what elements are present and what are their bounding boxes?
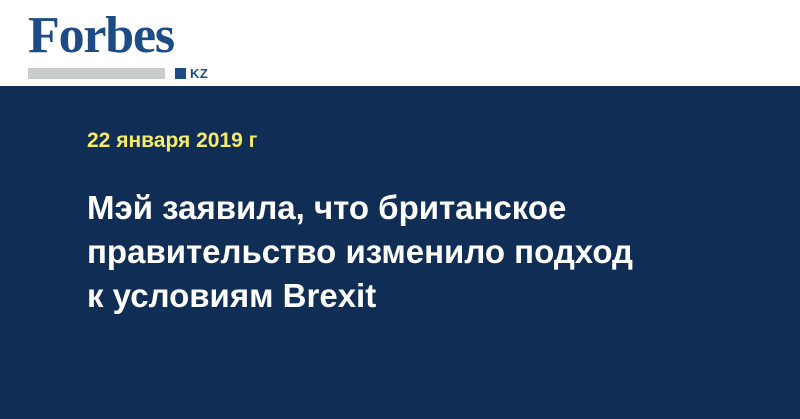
article-card: Forbes KZ 22 января 2019 г Мэй заявила, … [0, 0, 800, 419]
forbes-kz-logo[interactable]: Forbes KZ [28, 10, 218, 76]
logo-square-icon [175, 68, 186, 79]
forbes-wordmark: Forbes [28, 10, 174, 62]
logo-rule-divider [28, 68, 165, 79]
site-header: Forbes KZ [0, 0, 800, 86]
article-hero: 22 января 2019 г Мэй заявила, что британ… [0, 86, 800, 419]
article-date: 22 января 2019 г [87, 130, 257, 151]
article-headline: Мэй заявила, что британское правительств… [87, 186, 727, 318]
logo-edition-label: KZ [190, 67, 208, 80]
headline-line: Мэй заявила, что британское [87, 186, 727, 230]
headline-line: правительство изменило подход [87, 230, 727, 274]
headline-line: к условиям Brexit [87, 274, 727, 318]
